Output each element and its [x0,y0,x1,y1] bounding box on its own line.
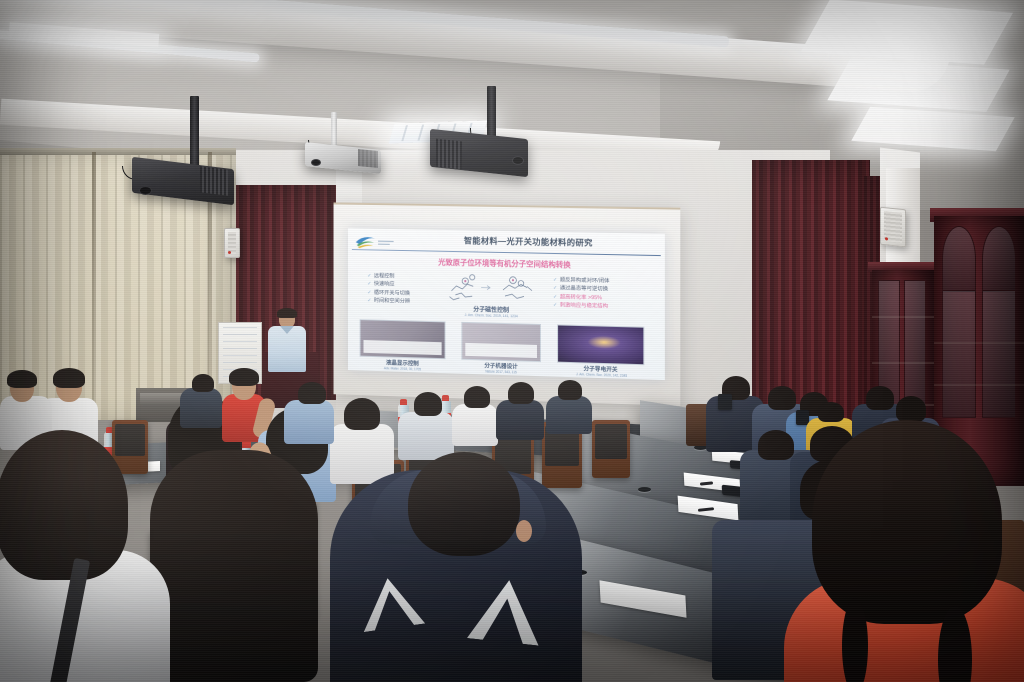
person-torso [398,412,454,460]
slide-image-panel-1 [360,319,446,359]
person-hair [7,370,37,388]
person-hair [192,374,214,392]
person-hair [408,452,520,556]
conference-room-photo: 智能材料—光开关功能材料的研究 光致原子位环境等有机分子空间结构转换 远程控制 … [0,0,1024,682]
person-hair [818,402,844,422]
slide-image-panel-2 [461,322,541,362]
bottle-cap [400,399,407,405]
person-hair [229,368,259,386]
person-hair [812,420,1002,624]
smartphone-raised[interactable] [718,394,732,410]
bookcase-shelf [934,384,1024,386]
bookcase-shelf [872,316,934,318]
molecule-structure-diagram [442,271,541,305]
person-torso [546,396,592,434]
projector-lens [311,159,321,166]
table-cable-grommet [638,487,651,492]
bullet-item-highlight: 刺激响应与稳定结构 [553,301,609,311]
panel-subcaption-bar [465,343,536,358]
person-torso [284,400,334,444]
person-black-hair-center-left [150,450,318,682]
bookcase-shelf [934,342,1024,344]
projector-lens [512,156,524,165]
person-torso [452,404,498,446]
projection-screen: 智能材料—光开关功能材料的研究 光致原子位环境等有机分子空间结构转换 远程控制 … [334,202,681,406]
slide-bullets-right: 顺反异构或对环/闭体 通过晶态等可逆切换 超高转化率 >95% 刺激响应与稳定结… [553,276,609,311]
speaker-led-icon [228,251,231,254]
slide-image-panel-3 [557,324,644,365]
person-hair [298,382,326,404]
person-hair [758,430,794,460]
speaker-right-wall [880,207,906,248]
person-hair [414,392,442,416]
presenter-hair [277,308,297,318]
bookcase-arched-glass-door[interactable] [982,226,1016,292]
person-torso [330,424,394,484]
bookcase-glass-door[interactable] [982,290,1016,418]
chair[interactable] [592,420,630,478]
person-hair [53,368,85,388]
person-torso [496,400,544,440]
person-white-shirt-left [0,430,158,682]
bookcase-glass-door[interactable] [942,290,976,418]
person-hair [866,386,894,410]
bookcase-shelf [872,362,934,364]
person-hair [344,398,380,430]
person-torso [180,388,222,428]
person-ear [516,520,532,542]
person-red-top-right [790,420,1024,682]
curtain-rod [0,148,236,155]
presenter [266,310,308,370]
person-hair [0,430,128,580]
projector-vent [436,139,462,170]
curtain-seam-1 [92,152,96,420]
projector-mount-pole [190,96,199,166]
projector-lens [139,186,152,195]
chair-back [595,424,627,459]
person-hair [768,386,796,410]
bookcase-arched-glass-door[interactable] [942,226,976,292]
projector-vent [200,166,228,195]
person-hair [508,382,534,404]
bottle-cap [442,395,449,401]
slide-title: 智能材料—光开关功能材料的研究 [400,233,658,250]
projector-vent [358,149,378,168]
panel-glow [587,336,621,350]
speaker-left-wall [224,228,240,258]
presentation-slide: 智能材料—光开关功能材料的研究 光致原子位环境等有机分子空间结构转换 远程控制 … [348,228,665,380]
panel-subcaption-bar [364,340,441,355]
person-hair [558,380,582,400]
person-hair [464,386,490,408]
slide-subtitle: 光致原子位环境等有机分子空间结构转换 [348,255,665,273]
slide-bullets-left: 远程控制 快速响应 循环开关与切换 时间和空间分辨 [367,272,410,306]
person-hair [896,396,926,422]
bullet-item: 时间和空间分辨 [367,297,410,306]
speaker-led-icon [885,237,888,240]
